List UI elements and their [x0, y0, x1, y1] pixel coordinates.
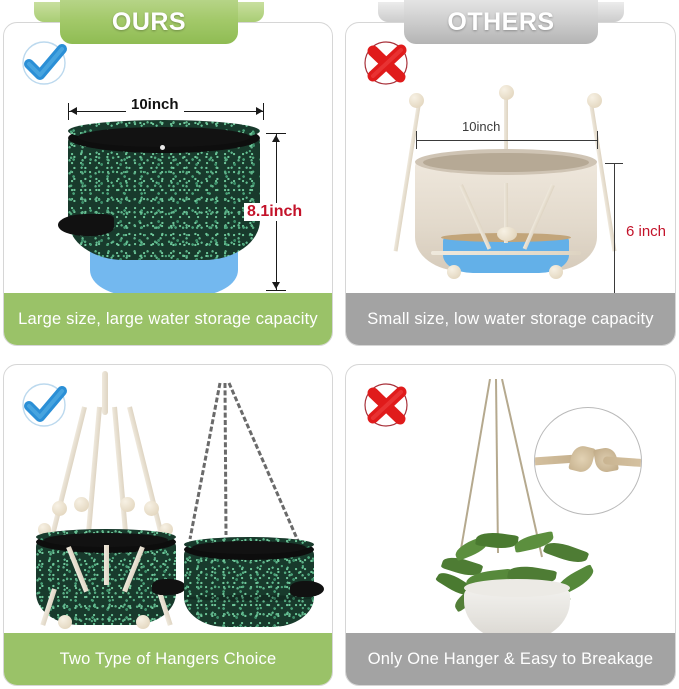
panel-ours-size: 10inch 8.1inch Large size, large water s…	[3, 22, 333, 346]
caption-others-hanger: Only One Hanger & Easy to Breakage	[346, 633, 675, 685]
dimension-arrow-up	[272, 135, 280, 142]
panel-stage-others-size: 10inch 6 inch	[346, 23, 675, 293]
dimension-tick-right	[597, 131, 598, 149]
caption-ours-hangers: Two Type of Hangers Choice	[4, 633, 332, 685]
dimension-tick-top	[605, 163, 623, 164]
dimension-line-height	[614, 163, 615, 293]
banner-ours-label: OURS	[112, 0, 186, 44]
banner-others-body: OTHERS	[404, 0, 598, 44]
product-image-chain-hanger	[182, 371, 332, 626]
panel-stage-ours-hangers	[4, 365, 332, 633]
dimension-label-width: 10inch	[458, 119, 504, 134]
panel-stage-others-hanger	[346, 365, 675, 633]
banner-others: OTHERS	[404, 0, 598, 44]
dimension-tick-right	[263, 103, 264, 120]
dimension-tick-top	[266, 133, 286, 134]
dimension-arrow-right	[256, 107, 263, 115]
dimension-tick-bottom	[266, 290, 286, 291]
caption-others-size: Small size, low water storage capacity	[346, 293, 675, 345]
banner-others-label: OTHERS	[447, 0, 554, 44]
banner-ours: OURS	[60, 0, 238, 44]
panel-others-hanger: Only One Hanger & Easy to Breakage	[345, 364, 676, 686]
panel-others-size: 10inch 6 inch Small size, low water stor…	[345, 22, 676, 346]
product-image-ours-planter	[64, 118, 264, 293]
dimension-arrow-down	[272, 282, 280, 289]
banner-ours-body: OURS	[60, 0, 238, 44]
dimension-label-height: 6 inch	[624, 223, 668, 240]
dimension-label-height: 8.1inch	[244, 203, 305, 221]
cross-icon	[360, 379, 412, 431]
panel-ours-hangers: Two Type of Hangers Choice	[3, 364, 333, 686]
dimension-arrow-left	[70, 107, 77, 115]
dimension-tick-left	[68, 103, 69, 120]
comparison-grid: 10inch 8.1inch Large size, large water s…	[0, 0, 679, 689]
dimension-label-width: 10inch	[126, 96, 184, 113]
broken-rope-detail-inset	[534, 407, 642, 515]
panel-stage-ours-size: 10inch 8.1inch	[4, 23, 332, 293]
banner-tail-right	[594, 2, 624, 22]
check-icon	[18, 379, 70, 431]
banner-tail-right	[234, 2, 264, 22]
product-image-others-planter	[401, 85, 611, 293]
dimension-tick-left	[416, 131, 417, 149]
dimension-line-width	[416, 140, 598, 141]
cross-icon	[360, 37, 412, 89]
caption-ours-size: Large size, large water storage capacity	[4, 293, 332, 345]
check-icon	[18, 37, 70, 89]
